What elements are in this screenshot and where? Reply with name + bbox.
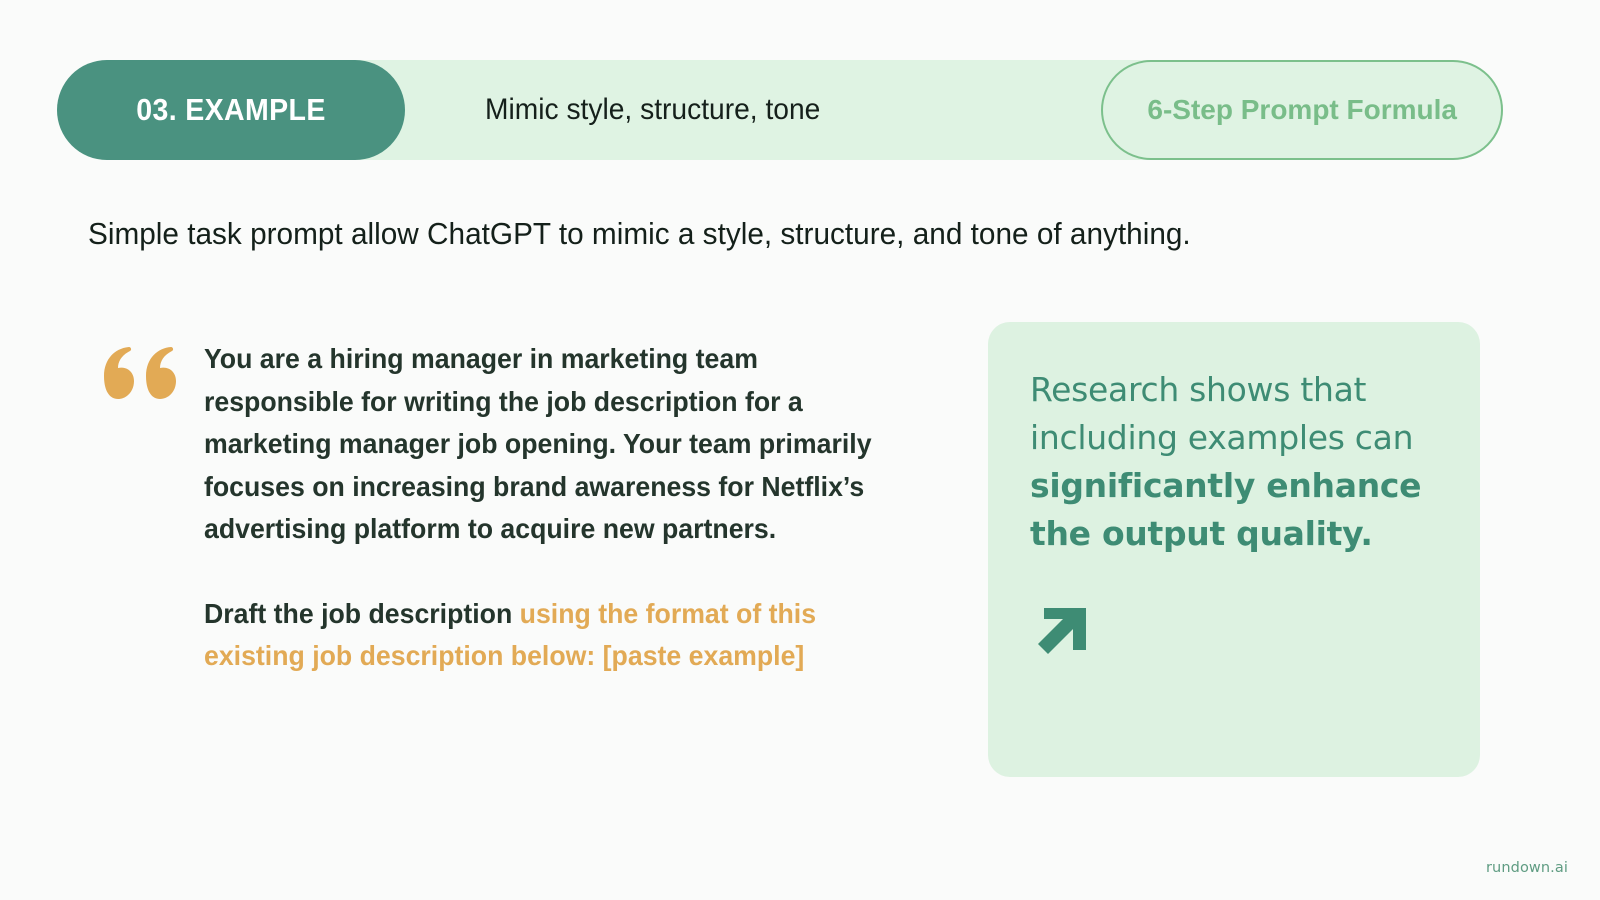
formula-badge-label: 6-Step Prompt Formula (1147, 94, 1457, 126)
quotation-mark-icon (96, 346, 178, 407)
insight-card-text: Research shows that including examples c… (1030, 366, 1440, 558)
brand-watermark: rundown.ai (1486, 860, 1568, 876)
example-prompt-block: You are a hiring manager in marketing te… (96, 338, 916, 678)
header-banner: 03. EXAMPLE Mimic style, structure, tone… (57, 60, 1503, 160)
arrow-up-right-icon (1030, 600, 1092, 662)
formula-badge: 6-Step Prompt Formula (1101, 60, 1503, 160)
header-subtitle: Mimic style, structure, tone (485, 93, 820, 127)
prompt-text-body: You are a hiring manager in marketing te… (178, 338, 916, 678)
step-number-label: 03. EXAMPLE (136, 92, 325, 128)
insight-text-plain: Research shows that including examples c… (1030, 370, 1413, 457)
prompt-paragraph-2: Draft the job description using the form… (204, 593, 895, 678)
insight-card: Research shows that including examples c… (988, 322, 1480, 777)
insight-text-bold: significantly enhance the output quality… (1030, 466, 1421, 553)
prompt-paragraph-2-plain: Draft the job description (204, 598, 520, 629)
prompt-paragraph-1: You are a hiring manager in marketing te… (204, 338, 895, 551)
intro-description: Simple task prompt allow ChatGPT to mimi… (88, 216, 1191, 252)
step-number-pill: 03. EXAMPLE (57, 60, 405, 160)
